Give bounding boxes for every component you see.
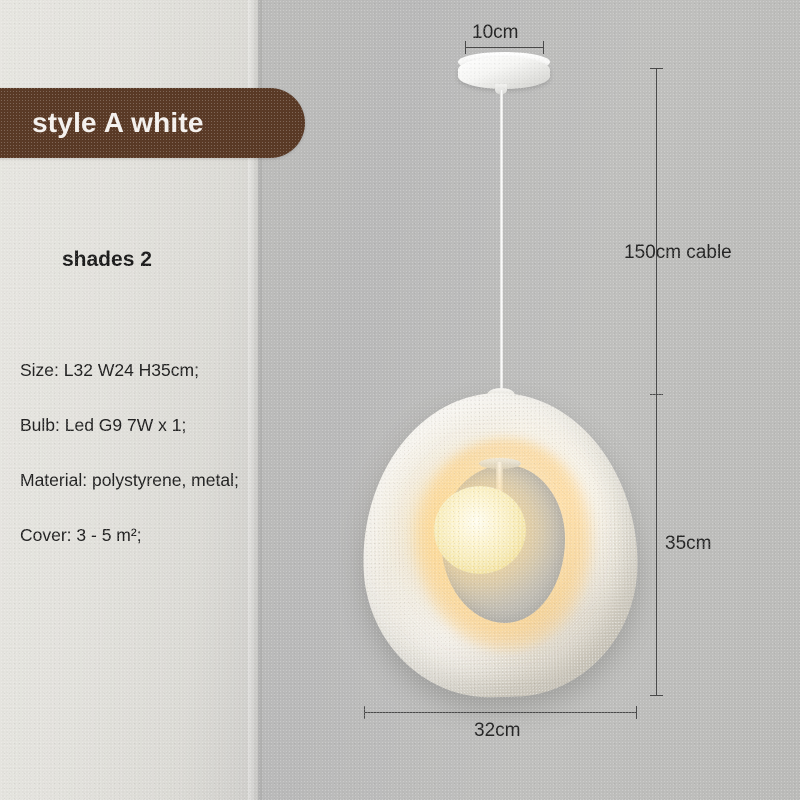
spec-line-material: Material: polystyrene, metal; bbox=[20, 470, 340, 490]
light-bulb bbox=[434, 486, 526, 574]
shade-width-tick-left bbox=[364, 706, 365, 719]
shade-height-dimension-line bbox=[656, 394, 657, 695]
spec-line-size: Size: L32 W24 H35cm; bbox=[20, 360, 340, 380]
spec-list: Size: L32 W24 H35cm; Bulb: Led G9 7W x 1… bbox=[20, 360, 340, 580]
shade-height-tick-bottom bbox=[650, 695, 663, 696]
style-banner: style A white bbox=[0, 88, 305, 158]
cable-length-tick-top bbox=[650, 68, 663, 69]
pendant-cable bbox=[500, 90, 503, 395]
shade-height-tick-top bbox=[650, 394, 663, 395]
spec-line-cover: Cover: 3 - 5 m²; bbox=[20, 525, 340, 545]
product-image-scene: style A white shades 2 Size: L32 W24 H35… bbox=[0, 0, 800, 800]
canopy-width-tick-right bbox=[543, 41, 544, 54]
variant-title: shades 2 bbox=[62, 248, 152, 272]
shade-width-dimension-line bbox=[364, 712, 636, 713]
style-banner-label: style A white bbox=[32, 88, 204, 158]
cable-length-dimension-line bbox=[656, 68, 657, 394]
canopy-width-dimension-line bbox=[465, 47, 543, 48]
shade-width-label: 32cm bbox=[474, 720, 520, 742]
shade-height-label: 35cm bbox=[665, 533, 711, 555]
canopy-width-tick-left bbox=[465, 41, 466, 54]
shade-width-tick-right bbox=[636, 706, 637, 719]
canopy-width-label: 10cm bbox=[472, 22, 518, 44]
spec-line-bulb: Bulb: Led G9 7W x 1; bbox=[20, 415, 340, 435]
bulb-texture bbox=[434, 486, 526, 574]
cable-length-label: 150cm cable bbox=[624, 242, 732, 264]
